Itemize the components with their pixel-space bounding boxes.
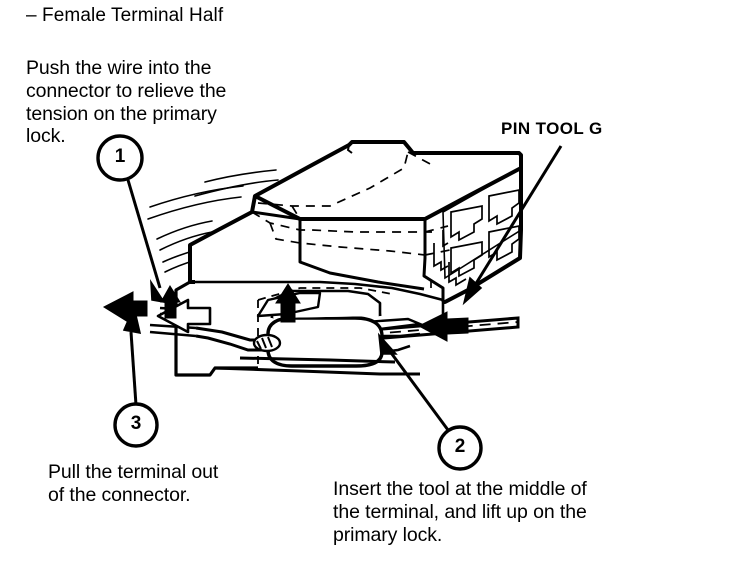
wire-bundle-curves (148, 170, 278, 272)
pull-terminal-arrow (104, 292, 147, 325)
connector-illustration (0, 0, 736, 566)
callout-3-number: 3 (122, 413, 150, 435)
callout-2-leader (379, 335, 448, 430)
connector-top-face (255, 142, 521, 219)
connector-upper-step (190, 196, 255, 282)
insert-tool-arrow (419, 312, 468, 341)
callout-2-number: 2 (446, 436, 474, 458)
diagram-page: – Female Terminal Half Push the wire int… (0, 0, 736, 566)
callout-1-number: 1 (106, 146, 134, 168)
callout-3-leader (124, 307, 140, 405)
callout-1-leader (128, 180, 164, 302)
